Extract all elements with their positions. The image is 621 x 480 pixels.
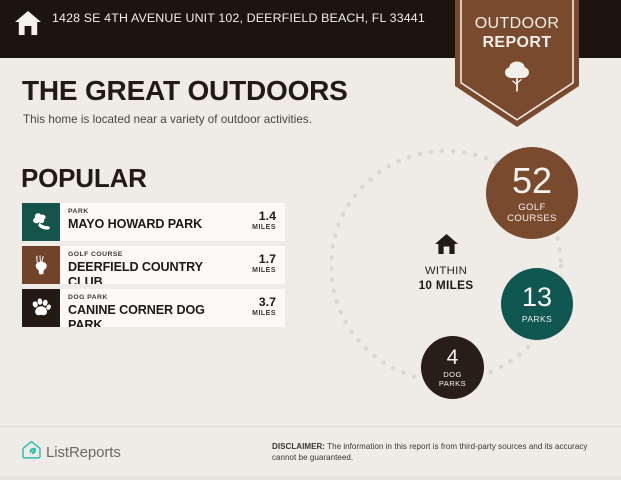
distance-value: 3.7: [239, 296, 276, 309]
stat-value: 4: [447, 347, 459, 368]
list-item-category: GOLF COURSE: [68, 251, 239, 259]
tree-icon: [504, 60, 530, 92]
list-item-text: DOG PARK CANINE CORNER DOG PARK: [60, 289, 239, 327]
listreports-house-icon: [22, 440, 41, 464]
distance-value: 1.4: [239, 210, 276, 223]
proximity-infographic: WITHIN 10 MILES 52 GOLF COURSES 13 PARKS…: [330, 135, 610, 425]
list-item-category: DOG PARK: [68, 294, 239, 302]
badge-title-line2: REPORT: [455, 33, 579, 52]
listreports-logo-text: ListReports: [46, 444, 121, 461]
list-item-category: PARK: [68, 208, 239, 216]
stat-label: GOLF COURSES: [507, 202, 557, 224]
bottom-bar: [0, 476, 621, 480]
list-item-text: PARK MAYO HOWARD PARK: [60, 203, 239, 241]
home-icon: [391, 233, 501, 260]
stat-bubble-parks: 13 PARKS: [501, 268, 573, 340]
distance-unit: MILES: [239, 309, 276, 318]
stat-label: PARKS: [522, 314, 552, 324]
stat-label-line1: PARKS: [522, 314, 552, 324]
stat-label: DOG PARKS: [439, 370, 466, 388]
property-address: 1428 SE 4TH AVENUE UNIT 102, DEERFIELD B…: [52, 9, 425, 26]
center-marker: WITHIN 10 MILES: [391, 233, 501, 292]
center-label-line2: 10 MILES: [391, 278, 501, 292]
badge-title: OUTDOOR REPORT: [455, 14, 579, 52]
stat-label-line1: DOG: [439, 370, 466, 379]
popular-list: PARK MAYO HOWARD PARK 1.4 MILES GOLF COU…: [22, 203, 285, 332]
list-item[interactable]: GOLF COURSE DEERFIELD COUNTRY CLUB 1.7 M…: [22, 246, 285, 284]
listreports-logo[interactable]: ListReports: [22, 440, 121, 464]
outdoor-report-page: 1428 SE 4TH AVENUE UNIT 102, DEERFIELD B…: [0, 0, 621, 480]
park-tree-icon: [22, 203, 60, 241]
footer-divider: [0, 426, 621, 427]
stat-bubble-golf-courses: 52 GOLF COURSES: [486, 147, 578, 239]
stat-bubble-dog-parks: 4 DOG PARKS: [421, 336, 484, 399]
list-item-name: CANINE CORNER DOG PARK: [68, 303, 239, 327]
stat-label-line1: GOLF: [507, 202, 557, 213]
distance-unit: MILES: [239, 223, 276, 232]
list-item-distance: 1.4 MILES: [239, 203, 285, 241]
disclaimer: DISCLAIMER: The information in this repo…: [272, 441, 602, 463]
list-item-name: MAYO HOWARD PARK: [68, 217, 239, 232]
list-item-name: DEERFIELD COUNTRY CLUB: [68, 260, 239, 284]
list-item-distance: 1.7 MILES: [239, 246, 285, 284]
home-icon: [14, 10, 42, 41]
stat-value: 52: [512, 163, 552, 199]
badge-title-line1: OUTDOOR: [455, 14, 579, 33]
popular-heading: POPULAR: [21, 163, 147, 194]
list-item-text: GOLF COURSE DEERFIELD COUNTRY CLUB: [60, 246, 239, 284]
center-label-line1: WITHIN: [391, 264, 501, 278]
outdoor-report-badge: OUTDOOR REPORT: [455, 0, 579, 127]
distance-value: 1.7: [239, 253, 276, 266]
distance-unit: MILES: [239, 266, 276, 275]
paw-print-icon: [22, 289, 60, 327]
list-item[interactable]: PARK MAYO HOWARD PARK 1.4 MILES: [22, 203, 285, 241]
golf-clubs-icon: [22, 246, 60, 284]
list-item-distance: 3.7 MILES: [239, 289, 285, 327]
stat-label-line2: PARKS: [439, 379, 466, 388]
page-title: THE GREAT OUTDOORS: [22, 75, 348, 107]
stat-value: 13: [522, 284, 552, 311]
stat-label-line2: COURSES: [507, 213, 557, 224]
disclaimer-label: DISCLAIMER:: [272, 442, 325, 451]
page-subtitle: This home is located near a variety of o…: [23, 113, 312, 126]
list-item[interactable]: DOG PARK CANINE CORNER DOG PARK 3.7 MILE…: [22, 289, 285, 327]
header-address-group: 1428 SE 4TH AVENUE UNIT 102, DEERFIELD B…: [14, 9, 434, 41]
